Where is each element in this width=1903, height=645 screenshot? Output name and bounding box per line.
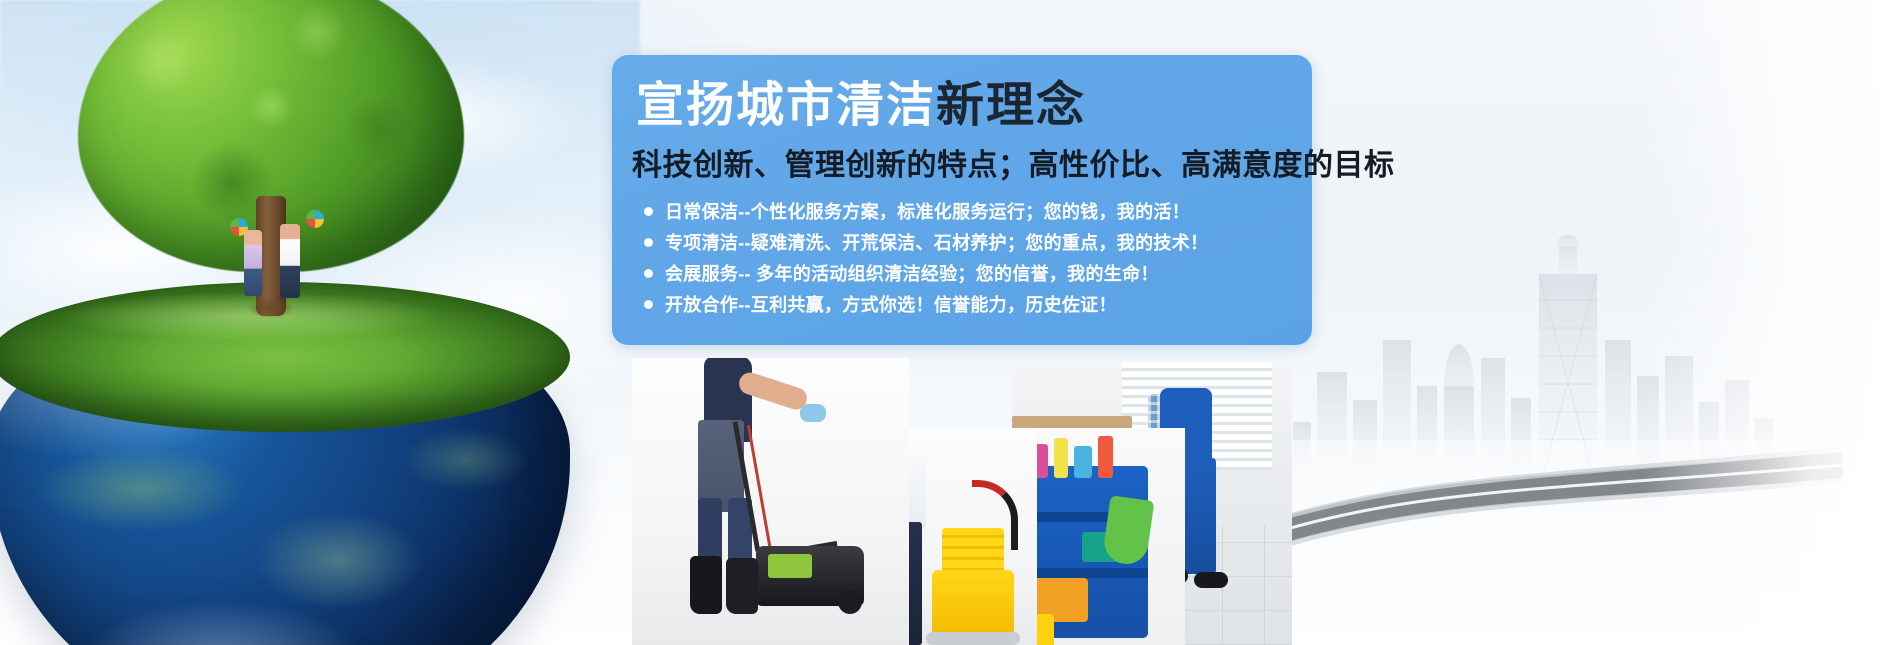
cart-shelf	[1022, 568, 1148, 578]
rubber-boot	[690, 556, 722, 614]
list-item: 专项清洁--疑难清洗、开荒保洁、石材养护；您的重点，我的技术！	[640, 227, 1360, 257]
photo-floor-scrubber	[632, 358, 909, 645]
bullet-dot-icon	[644, 238, 653, 247]
spray-bottle	[1054, 438, 1068, 478]
rubber-boot	[726, 558, 758, 614]
headline-highlight: 宣扬城市清洁	[636, 79, 936, 132]
list-item: 会展服务-- 多年的活动组织清洁经验；您的信誉，我的生命！	[640, 258, 1360, 288]
feature-list: 日常保洁--个性化服务方案，标准化服务运行；您的钱，我的活！ 专项清洁--疑难清…	[640, 196, 1360, 320]
list-item: 日常保洁--个性化服务方案，标准化服务运行；您的钱，我的活！	[640, 196, 1360, 226]
list-item-label: 开放合作--互利共赢，方式你选！信誉能力，历史佐证！	[665, 291, 1117, 317]
list-item-label: 会展服务-- 多年的活动组织清洁经验；您的信誉，我的生命！	[665, 260, 1159, 286]
scrubber-label	[768, 554, 812, 578]
scrubber-wheel	[838, 590, 862, 614]
list-item-label: 日常保洁--个性化服务方案，标准化服务运行；您的钱，我的活！	[665, 198, 1190, 224]
right-fade-overlay	[1643, 0, 1903, 645]
photo-strip	[632, 358, 1292, 645]
worker-shoe	[1194, 572, 1228, 588]
child-figure	[244, 230, 262, 296]
page-subtitle: 科技创新、管理创新的特点；高性价比、高满意度的目标	[632, 146, 1395, 185]
page-title: 宣扬城市清洁新理念	[636, 78, 1086, 135]
spray-bottle	[1074, 446, 1092, 478]
bullet-dot-icon	[644, 300, 653, 309]
list-item-label: 专项清洁--疑难清洗、开荒保洁、石材养护；您的重点，我的技术！	[665, 229, 1208, 255]
headline-rest: 新理念	[936, 79, 1086, 132]
child-figure	[280, 224, 300, 298]
globe-graphic	[0, 240, 580, 645]
list-item: 开放合作--互利共赢，方式你选！信誉能力，历史佐证！	[640, 289, 1360, 319]
pinwheel-icon	[306, 210, 324, 228]
bucket-base	[926, 632, 1020, 645]
bullet-dot-icon	[644, 269, 653, 278]
promo-banner: 宣扬城市清洁新理念 科技创新、管理创新的特点；高性价比、高满意度的目标 日常保洁…	[0, 0, 1903, 645]
bullet-dot-icon	[644, 207, 653, 216]
spray-bottle	[1098, 436, 1113, 478]
